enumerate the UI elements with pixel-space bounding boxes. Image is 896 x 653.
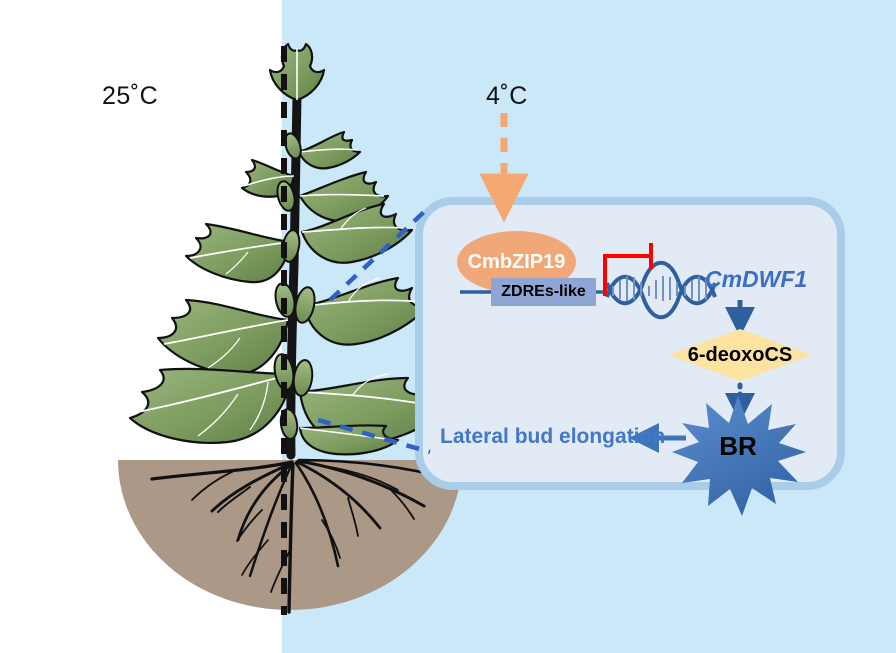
metabolite-node-6-deoxocs[interactable]: 6-deoxoCS — [668, 329, 812, 381]
outcome-node-lateral-bud-elongation[interactable]: Lateral bud elongation — [440, 425, 665, 449]
hormone-node-label: BR — [719, 431, 757, 462]
gene-node-cmdwf1[interactable]: CmDWF1 — [705, 266, 807, 293]
hormone-node-br[interactable]: BR — [690, 398, 786, 494]
pathway-diagram-layer — [0, 0, 896, 653]
metabolite-node-label: 6-deoxoCS — [688, 344, 792, 367]
figure-canvas: 25˚C 4˚C — [0, 0, 896, 653]
cell-zoom-connector-lines — [318, 212, 430, 452]
dna-helix-icon — [607, 263, 715, 318]
promoter-element-node-zdres-like[interactable]: ZDREs-like — [491, 278, 596, 306]
